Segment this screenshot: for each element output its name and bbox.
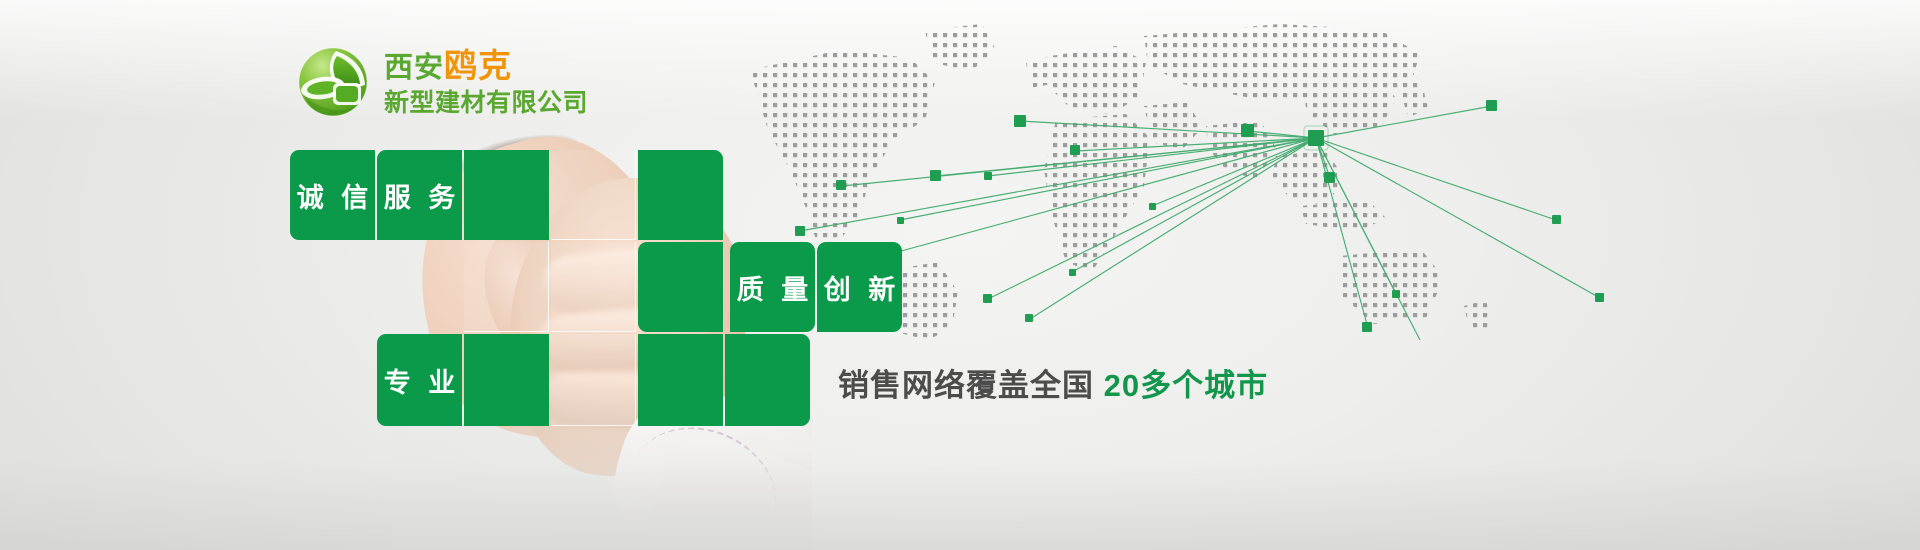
tile-glass-r2c3 <box>464 242 549 332</box>
sales-network-tagline: 销售网络覆盖全国 20多个城市 <box>838 360 1268 405</box>
logo-line-2: 新型建材有限公司 <box>384 91 588 116</box>
tile-integrity-label: 诚 信 <box>290 150 375 240</box>
tile-integrity: 诚 信 <box>290 150 375 240</box>
network-hub-node <box>1308 130 1324 146</box>
tile-service: 服 务 <box>377 150 462 240</box>
value-tile-mosaic: 诚 信 服 务 质 量 创 新 专 业 <box>290 150 820 415</box>
tile-blank-r3c6 <box>725 334 810 426</box>
tile-blank-r3c3 <box>464 334 549 426</box>
logo-line-1: 西安鸥克 <box>384 49 588 83</box>
logo-brand-text: 鸥克 <box>444 47 512 84</box>
tile-glass-r3c4 <box>551 334 636 426</box>
tile-professional-label: 专 业 <box>377 334 462 426</box>
tile-blank-r1c5 <box>638 150 723 240</box>
tile-blank-r1c3 <box>464 150 549 240</box>
tile-glass-r2c4 <box>551 242 636 332</box>
logo-text-block: 西安鸥克 新型建材有限公司 <box>384 49 588 116</box>
tile-professional: 专 业 <box>377 334 462 426</box>
tagline-prefix: 销售网络覆盖全国 <box>838 368 1094 403</box>
logo-city-text: 西安 <box>384 52 444 84</box>
tile-quality-label: 质 量 <box>730 242 815 332</box>
company-banner: 诚 信 服 务 质 量 创 新 专 业 <box>0 0 1920 550</box>
tile-innovation: 创 新 <box>817 242 902 332</box>
leaf-globe-logo-icon <box>296 45 370 119</box>
tile-glass-r1c4 <box>551 150 636 240</box>
tile-blank-r2c5 <box>638 242 723 332</box>
tile-blank-r3c5 <box>638 334 723 426</box>
tagline-highlight: 20多个城市 <box>1104 368 1268 403</box>
tile-service-label: 服 务 <box>377 150 462 240</box>
tile-innovation-label: 创 新 <box>817 242 902 332</box>
background-bottom-shade <box>0 460 1920 550</box>
tile-quality: 质 量 <box>730 242 815 332</box>
company-logo[interactable]: 西安鸥克 新型建材有限公司 <box>296 45 588 119</box>
